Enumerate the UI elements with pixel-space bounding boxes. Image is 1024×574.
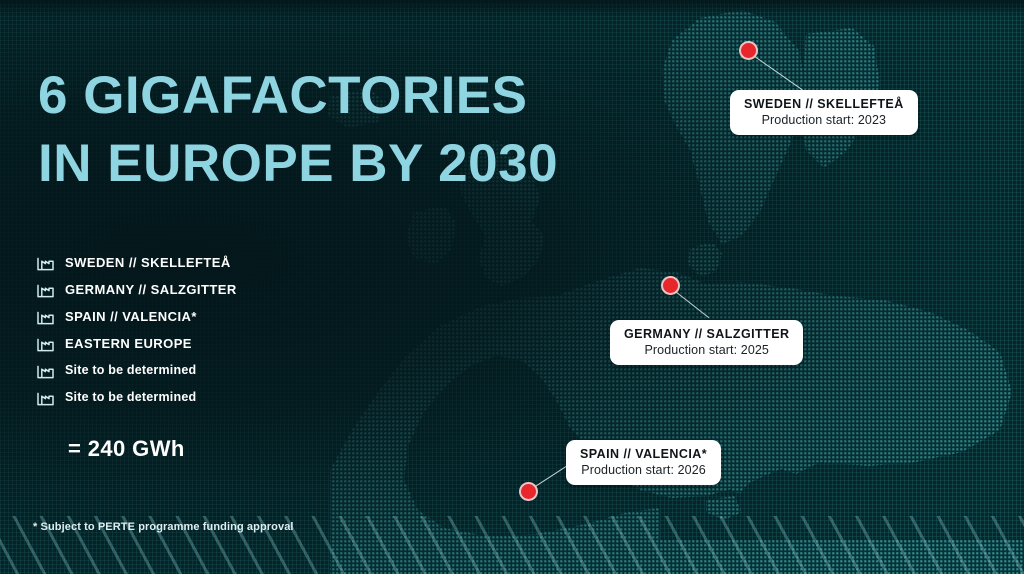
page-title: 6 GIGAFACTORIES IN EUROPE BY 2030 — [38, 62, 638, 200]
footnote: * Subject to PERTE programme funding app… — [33, 521, 294, 533]
gigafactory-site-list: SWEDEN // SKELLEFTEÅ GERMANY // SALZGITT… — [36, 249, 237, 411]
factory-icon — [36, 389, 55, 406]
site-label: Site to be determined — [65, 390, 196, 404]
total-capacity-label: = 240 GWh — [68, 436, 185, 462]
map-marker-spain[interactable] — [519, 482, 538, 501]
map-marker-germany[interactable] — [661, 276, 680, 295]
callout-sweden[interactable]: SWEDEN // SKELLEFTEÅ Production start: 2… — [730, 90, 918, 135]
callout-spain[interactable]: SPAIN // VALENCIA* Production start: 202… — [566, 440, 721, 485]
callout-subtitle: Production start: 2025 — [624, 343, 789, 357]
factory-icon — [36, 281, 55, 298]
site-label: SPAIN // VALENCIA* — [65, 309, 197, 324]
slide-canvas: 6 GIGAFACTORIES IN EUROPE BY 2030 SWEDEN… — [0, 0, 1024, 574]
list-item: Site to be determined — [36, 384, 237, 410]
list-item: Site to be determined — [36, 357, 237, 383]
factory-icon — [36, 308, 55, 325]
top-fade — [0, 0, 1024, 16]
callout-subtitle: Production start: 2026 — [580, 463, 707, 477]
leader-line-sweden — [751, 54, 802, 90]
callout-title: SPAIN // VALENCIA* — [580, 447, 707, 461]
callout-title: SWEDEN // SKELLEFTEÅ — [744, 97, 904, 111]
callout-title: GERMANY // SALZGITTER — [624, 327, 789, 341]
leader-line-germany — [672, 289, 709, 318]
list-item: GERMANY // SALZGITTER — [36, 276, 237, 302]
site-label: EASTERN EUROPE — [65, 336, 192, 351]
callout-germany[interactable]: GERMANY // SALZGITTER Production start: … — [610, 320, 803, 365]
factory-icon — [36, 335, 55, 352]
site-label: SWEDEN // SKELLEFTEÅ — [65, 255, 231, 270]
list-item: SWEDEN // SKELLEFTEÅ — [36, 249, 237, 275]
list-item: SPAIN // VALENCIA* — [36, 303, 237, 329]
list-item: EASTERN EUROPE — [36, 330, 237, 356]
map-marker-sweden[interactable] — [739, 41, 758, 60]
factory-icon — [36, 362, 55, 379]
factory-icon — [36, 254, 55, 271]
callout-subtitle: Production start: 2023 — [744, 113, 904, 127]
site-label: Site to be determined — [65, 363, 196, 377]
site-label: GERMANY // SALZGITTER — [65, 282, 237, 297]
